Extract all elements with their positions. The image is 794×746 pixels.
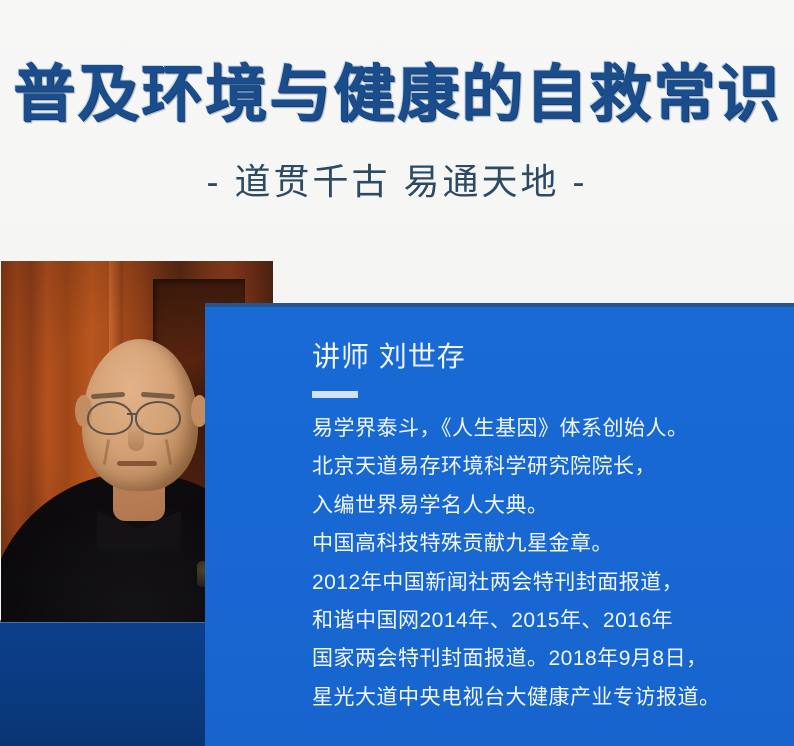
name-underline-divider <box>312 391 358 398</box>
lecturer-bio: 易学界泰斗，《人生基因》体系创始人。 北京天道易存环境科学研究院院长， 入编世界… <box>312 410 782 717</box>
bio-line: 中国高科技特殊贡献九星金章。 <box>312 525 782 563</box>
bio-line: 北京天道易存环境科学研究院院长， <box>312 448 782 486</box>
poster-header: 普及环境与健康的自救常识 - 道贯千古 易通天地 - <box>0 0 794 240</box>
lower-left-color-block <box>0 620 205 746</box>
bio-line: 和谐中国网2014年、2015年、2016年 <box>312 602 782 640</box>
glasses-bridge <box>127 413 137 415</box>
poster-root: 普及环境与健康的自救常识 - 道贯千古 易通天地 - <box>0 0 794 746</box>
bio-line: 2012年中国新闻社两会特刊封面报道， <box>312 564 782 602</box>
bio-line: 国家两会特刊封面报道。2018年9月8日， <box>312 640 782 678</box>
portrait-mouth <box>117 461 157 466</box>
bio-line: 易学界泰斗，《人生基因》体系创始人。 <box>312 410 782 448</box>
portrait-nose <box>128 421 144 451</box>
panel-content: 讲师 刘世存 易学界泰斗，《人生基因》体系创始人。 北京天道易存环境科学研究院院… <box>312 303 794 746</box>
bio-line: 入编世界易学名人大典。 <box>312 487 782 525</box>
page-subtitle: - 道贯千古 易通天地 - <box>0 158 794 206</box>
lecturer-name-heading: 讲师 刘世存 <box>312 340 466 374</box>
bio-line: 星光大道中央电视台大健康产业专访报道。 <box>312 679 782 717</box>
lecturer-info-panel: 讲师 刘世存 易学界泰斗，《人生基因》体系创始人。 北京天道易存环境科学研究院院… <box>205 303 794 746</box>
page-title: 普及环境与健康的自救常识 <box>0 56 794 134</box>
glasses-lens-left <box>87 401 133 435</box>
